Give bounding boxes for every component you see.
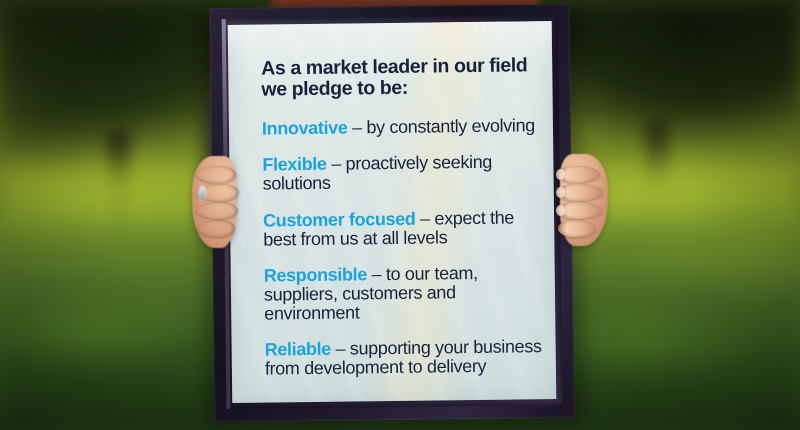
poster-copy: As a market leader in our field we pledg… — [261, 55, 542, 378]
picture-frame: As a market leader in our field we pledg… — [209, 4, 574, 422]
pledge-item-reliable: Reliable – supporting your business from… — [265, 337, 542, 379]
pledge-term: Flexible — [262, 154, 326, 175]
pledge-term: Innovative — [262, 118, 348, 139]
poster-top-sheen — [228, 21, 552, 59]
pledge-description: – by constantly evolving — [347, 116, 535, 138]
poster-sheet: As a market leader in our field we pledg… — [228, 21, 557, 403]
pledge-item-flexible: Flexible – proactively seeking solutions — [262, 153, 539, 195]
pledge-term: Responsible — [264, 264, 367, 285]
poster-heading: As a market leader in our field we pledg… — [261, 55, 538, 100]
pledge-item-responsible: Responsible – to our team, suppliers, cu… — [264, 263, 542, 324]
pledge-item-innovative: Innovative – by constantly evolving — [262, 117, 539, 139]
pledge-item-customer-focused: Customer focused – expect the best from … — [263, 208, 540, 250]
pledge-term: Reliable — [265, 339, 331, 360]
photo-scene: As a market leader in our field we pledg… — [0, 0, 800, 430]
